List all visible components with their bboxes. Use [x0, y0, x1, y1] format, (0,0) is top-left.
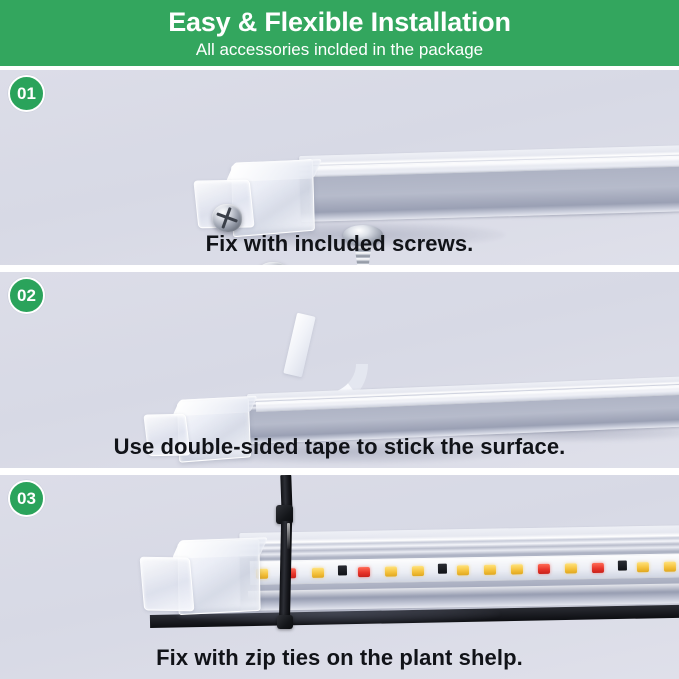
step-badge-02: 02 [8, 277, 45, 314]
led-diode [664, 562, 676, 572]
led-diode [358, 567, 370, 577]
led-diode [385, 566, 397, 576]
led-diode [637, 562, 649, 572]
step-badge-01: 01 [8, 75, 45, 112]
header-divider [0, 66, 679, 68]
step-panel-3: 03 [0, 475, 679, 679]
page-subtitle: All accessories inclded in the package [196, 39, 483, 60]
step-badge-03: 03 [8, 480, 45, 517]
step-panel-2: 02 Use double-sided tape to stick the su… [0, 272, 679, 468]
led-diode [565, 563, 577, 573]
page-title: Easy & Flexible Installation [168, 7, 511, 38]
end-cap-top-facet [172, 537, 268, 558]
led-diode [592, 563, 604, 573]
led-driver-ic [338, 565, 347, 575]
zip-tie-tail-knot [277, 615, 293, 629]
step-caption-3: Fix with zip ties on the plant shelp. [0, 645, 679, 671]
panel-divider-2 [0, 468, 679, 475]
step-caption-2: Use double-sided tape to stick the surfa… [0, 434, 679, 460]
zip-tie-strap-lower [279, 521, 292, 625]
product-infographic: Easy & Flexible Installation All accesso… [0, 0, 679, 679]
led-diode [312, 568, 324, 578]
led-driver-ic [618, 560, 627, 570]
led-diode [412, 566, 424, 576]
mounting-clip [140, 557, 195, 612]
panel-divider-1 [0, 265, 679, 272]
led-diode [511, 564, 523, 574]
led-diode [538, 564, 550, 574]
led-diode [484, 565, 496, 575]
zip-tie-highlight [287, 523, 290, 549]
end-cap-top-facet [226, 159, 322, 182]
aluminum-channel [299, 144, 679, 222]
led-diode [457, 565, 469, 575]
header-banner: Easy & Flexible Installation All accesso… [0, 0, 679, 66]
step-caption-1: Fix with included screws. [0, 231, 679, 257]
step-panel-1: 01 Fix with included screws. [0, 70, 679, 265]
led-driver-ic [438, 564, 447, 574]
